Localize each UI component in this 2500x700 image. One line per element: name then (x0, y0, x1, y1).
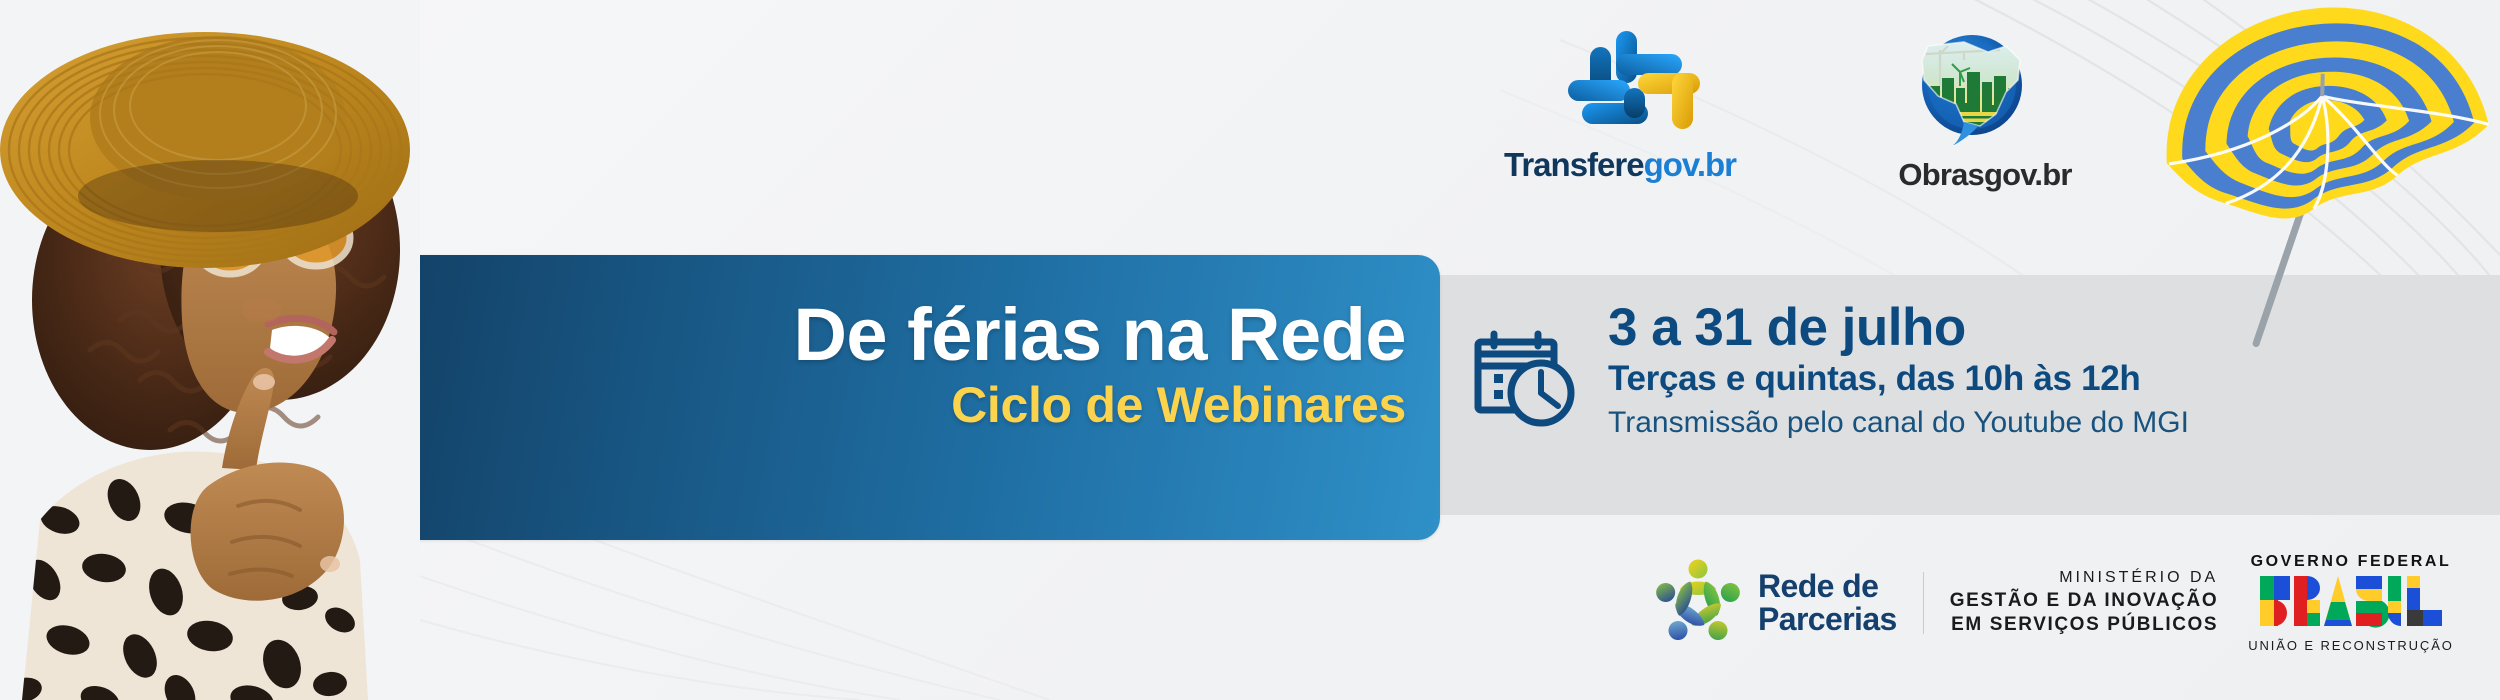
transferegov-wordmark: Transferegov.br (1470, 146, 1770, 184)
page-title: De férias na Rede (300, 297, 1406, 372)
transferegov-pinwheel-icon (1470, 25, 1770, 135)
rede-parcerias-line2: Parcerias (1758, 603, 1897, 636)
transferegov-word-dark: Transfere (1504, 146, 1644, 183)
logo-rede-parcerias[interactable]: Rede de Parcerias (1650, 555, 1897, 651)
hero-text-block: De férias na Rede Ciclo de Webinares (300, 297, 1406, 433)
rede-parcerias-people-circle-icon (1650, 555, 1746, 651)
logo-ministry: MINISTÉRIO DA GESTÃO E DA INOVAÇÃO EM SE… (1950, 568, 2218, 637)
obrasgov-wordmark: Obrasgov.br (1860, 157, 2110, 193)
event-info: 3 a 31 de julho Terças e quintas, das 10… (1470, 300, 2189, 441)
event-schedule: Terças e quintas, das 10h às 12h (1608, 358, 2189, 399)
rede-parcerias-line1: Rede de (1758, 570, 1897, 603)
governo-federal-label: GOVERNO FEDERAL (2248, 553, 2454, 571)
logo-transferegov[interactable]: Transferegov.br (1470, 25, 1770, 184)
rede-parcerias-wordmark: Rede de Parcerias (1758, 570, 1897, 635)
event-stream-note: Transmissão pelo canal do Youtube do MGI (1608, 405, 2189, 441)
hero-panel: De férias na Rede Ciclo de Webinares (300, 255, 1440, 540)
beach-umbrella-icon (2150, 0, 2500, 375)
calendar-clock-icon (1470, 322, 1578, 435)
ministry-line3: EM SERVIÇOS PÚBLICOS (1950, 613, 2218, 637)
logo-divider (1923, 572, 1924, 634)
transferegov-word-light: gov.br (1644, 146, 1736, 183)
page-subtitle: Ciclo de Webinares (300, 378, 1406, 433)
institutional-logo-strip: Rede de Parcerias MINISTÉRIO DA GESTÃO E… (1650, 548, 2454, 658)
obrasgov-brazil-globe-icon (1860, 30, 2110, 145)
ministry-line1: MINISTÉRIO DA (1950, 568, 2218, 588)
event-info-text: 3 a 31 de julho Terças e quintas, das 10… (1608, 300, 2189, 441)
governo-federal-tagline: UNIÃO E RECONSTRUÇÃO (2248, 638, 2454, 653)
banner-root: De férias na Rede Ciclo de Webinares (0, 0, 2500, 700)
ministry-line2: GESTÃO E DA INOVAÇÃO (1950, 589, 2218, 613)
event-date: 3 a 31 de julho (1608, 300, 2189, 356)
hero-photo (0, 0, 420, 700)
logo-governo-federal: GOVERNO FEDERAL (2248, 553, 2454, 653)
logo-obrasgov[interactable]: Obrasgov.br (1860, 30, 2110, 193)
brasil-wordmark-icon (2260, 576, 2442, 628)
